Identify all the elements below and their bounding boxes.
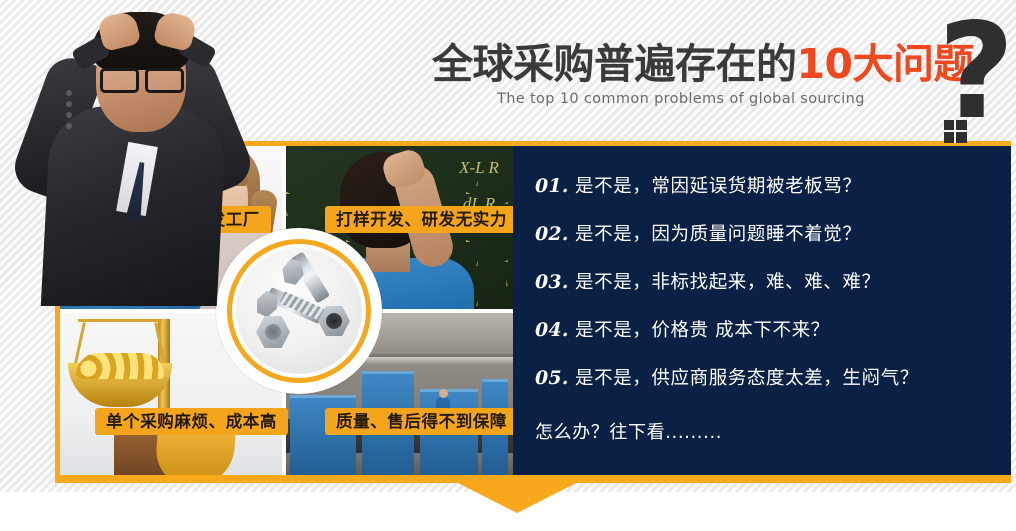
promo-banner: 全球采购普遍存在的10大问题 The top 10 common problem…	[0, 0, 1016, 531]
problem-item: 04. 是不是，价格贵 成本下不来？	[535, 316, 1011, 364]
problem-text: 是不是，因为质量问题睡不着觉？	[575, 220, 862, 246]
frustrated-businessman-photo	[4, 0, 274, 294]
problem-number: 02.	[535, 223, 575, 245]
problem-text: 是不是，非标找起来，难、难、难？	[575, 268, 881, 294]
tag-single-purchase-cost: 单个采购麻烦、成本高	[95, 408, 288, 435]
factory-machine	[290, 395, 356, 475]
tag-quality-aftersales: 质量、售后得不到保障	[325, 408, 513, 435]
page-subtitle: The top 10 common problems of global sou…	[497, 91, 952, 107]
businessman-glasses	[100, 68, 184, 88]
problem-text: 是不是，供应商服务态度太差，生闷气？	[575, 364, 919, 390]
page-title: 全球采购普遍存在的10大问题	[432, 44, 952, 86]
problem-text: 是不是，常因延误货期被老板骂？	[575, 172, 862, 198]
problem-text: 是不是，价格贵 成本下不来？	[575, 316, 830, 342]
businessman-sleeve-buttons	[66, 90, 74, 134]
title-plain-part: 全球采购普遍存在的	[432, 40, 797, 88]
problem-item: 01. 是不是，常因延误货期被老板骂？	[535, 172, 1011, 220]
headline-block: 全球采购普遍存在的10大问题 The top 10 common problem…	[432, 44, 952, 107]
problem-list-panel: 01. 是不是，常因延误货期被老板骂？ 02. 是不是，因为质量问题睡不着觉？ …	[513, 146, 1011, 475]
title-accent-part: 10大问题	[797, 40, 975, 88]
tag-weak-rnd: 打样开发、研发无实力	[325, 206, 513, 233]
problem-number: 01.	[535, 175, 575, 197]
gold-nuggets	[76, 353, 164, 379]
problem-item: 05. 是不是，供应商服务态度太差，生闷气？	[535, 364, 1011, 412]
problem-item: 03. 是不是，非标找起来，难、难、难？	[535, 268, 1011, 316]
problem-number: 03.	[535, 271, 575, 293]
problem-item: 02. 是不是，因为质量问题睡不着觉？	[535, 220, 1011, 268]
problem-number: 05.	[535, 367, 575, 389]
hex-nut	[256, 316, 290, 348]
panel-footnote: 怎么办？往下看.........	[535, 418, 1011, 444]
problem-number: 04.	[535, 319, 575, 341]
